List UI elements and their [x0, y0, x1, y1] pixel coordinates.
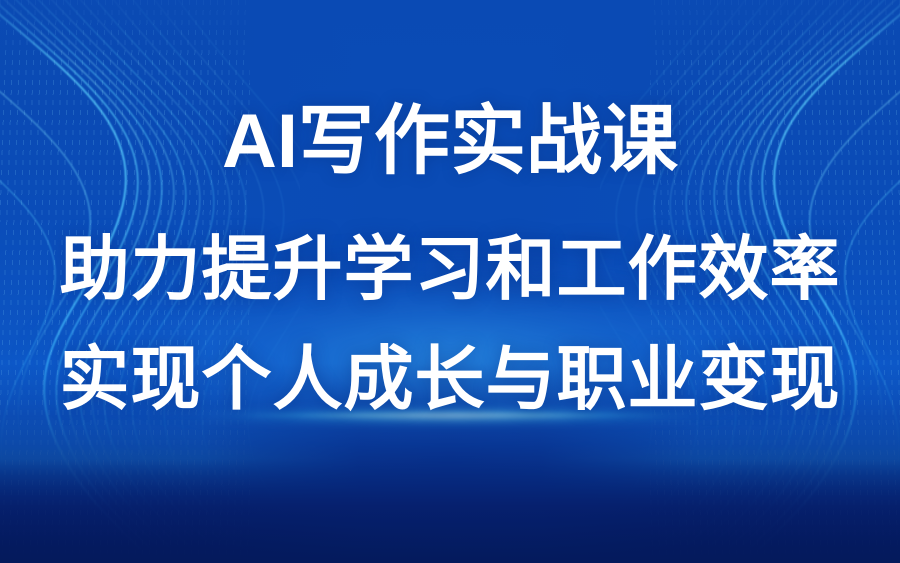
subtitle-line-2: 实现个人成长与职业变现 — [60, 344, 841, 414]
promo-banner: AI写作实战课 助力提升学习和工作效率 实现个人成长与职业变现 — [0, 0, 900, 563]
text-block: AI写作实战课 助力提升学习和工作效率 实现个人成长与职业变现 — [0, 0, 900, 563]
subtitle-line-1: 助力提升学习和工作效率 — [60, 234, 841, 304]
page-title: AI写作实战课 — [222, 104, 678, 180]
